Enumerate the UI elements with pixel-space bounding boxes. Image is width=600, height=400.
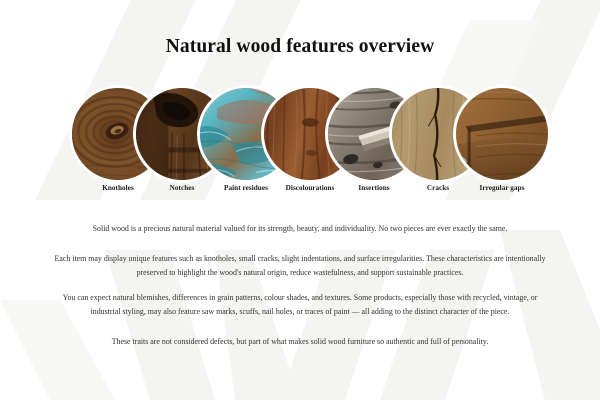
paragraph-3: You can expect natural blemishes, differ… bbox=[50, 291, 550, 319]
feature-strip: Knotholes bbox=[72, 88, 548, 180]
page-title: Natural wood features overview bbox=[0, 36, 600, 58]
paragraph-2: Each item may display unique features su… bbox=[54, 252, 546, 280]
feature-item-irregular-gaps: Irregular gaps bbox=[456, 88, 548, 180]
body-copy: Solid wood is a precious natural materia… bbox=[50, 222, 550, 349]
feature-label-irregular-gaps: Irregular gaps bbox=[422, 184, 582, 192]
feature-image-irregular-gaps bbox=[456, 88, 548, 180]
paragraph-4: These traits are not considered defects,… bbox=[50, 335, 550, 349]
paragraph-1: Solid wood is a precious natural materia… bbox=[50, 222, 550, 236]
poster-page: Natural wood features overview bbox=[0, 0, 600, 400]
